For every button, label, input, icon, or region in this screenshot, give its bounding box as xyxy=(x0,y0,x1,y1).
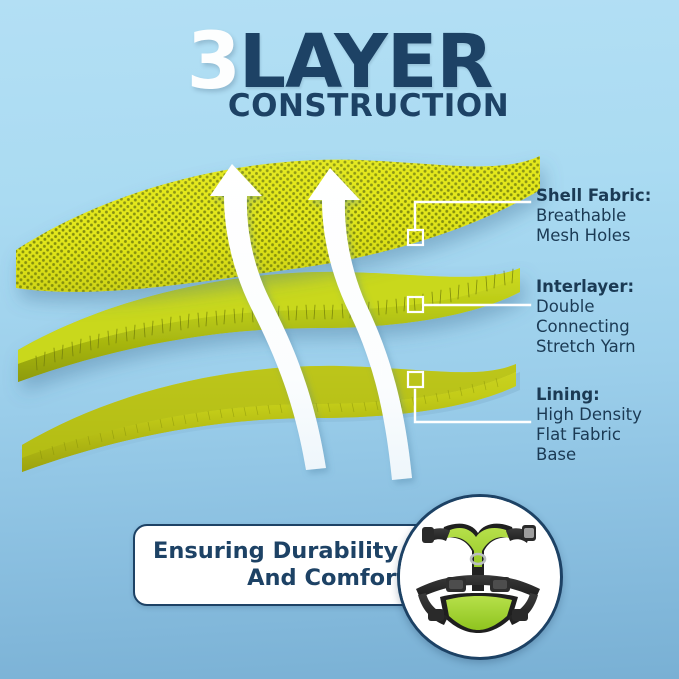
callout-heading: Shell Fabric: xyxy=(536,186,651,206)
layer-shell-fabric xyxy=(16,156,540,292)
infographic-canvas: 3 LAYER CONSTRUCTION xyxy=(0,0,679,679)
product-photo-circle xyxy=(397,494,563,660)
callout-line-2: Connecting xyxy=(536,317,636,337)
callout-heading: Lining: xyxy=(536,385,642,405)
callout-line-1: Breathable xyxy=(536,206,651,226)
callout-shell-fabric: Shell Fabric: Breathable Mesh Holes xyxy=(536,186,651,246)
callout-line-2: Mesh Holes xyxy=(536,226,651,246)
callout-interlayer: Interlayer: Double Connecting Stretch Ya… xyxy=(536,277,636,358)
callout-line-2: Flat Fabric xyxy=(536,425,642,445)
callout-line-3: Base xyxy=(536,445,642,465)
callout-heading: Interlayer: xyxy=(536,277,636,297)
callout-line-1: High Density xyxy=(536,405,642,425)
dog-harness-icon xyxy=(400,497,556,653)
title-word-layer: LAYER xyxy=(239,31,492,93)
callout-line-3: Stretch Yarn xyxy=(536,337,636,357)
callout-lining: Lining: High Density Flat Fabric Base xyxy=(536,385,642,466)
tagline-line-2: And Comfort xyxy=(153,565,433,592)
tagline-line-1: Ensuring Durability xyxy=(153,538,433,565)
title-main-row: 3 LAYER xyxy=(0,28,679,94)
title-number: 3 xyxy=(187,30,239,96)
page-title: 3 LAYER CONSTRUCTION xyxy=(0,28,679,124)
callout-line-1: Double xyxy=(536,297,636,317)
title-subtitle: CONSTRUCTION xyxy=(0,88,679,124)
